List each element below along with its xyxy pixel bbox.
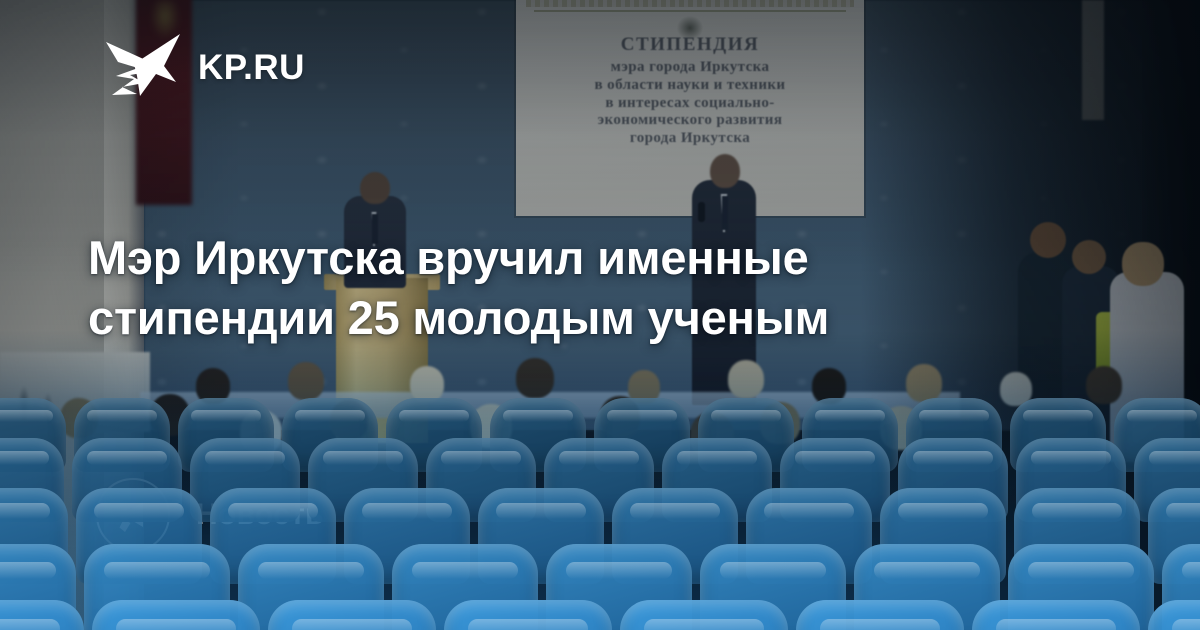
seat (620, 600, 788, 630)
brand-lockup[interactable]: KP.RU (104, 32, 305, 104)
headline-line-2: стипендии 25 молодым ученым (88, 288, 1048, 348)
headline-line-1: Мэр Иркутска вручил именные (88, 228, 1048, 288)
auditorium-seats (0, 392, 1200, 630)
seat (796, 600, 964, 630)
seat (972, 600, 1140, 630)
social-share-card: СТИПЕНДИЯ мэра города Иркутска в области… (0, 0, 1200, 630)
brand-name: KP.RU (198, 48, 305, 88)
page-title: Мэр Иркутска вручил именные стипендии 25… (88, 228, 1048, 348)
seat (92, 600, 260, 630)
swallow-bird-icon (104, 32, 182, 104)
seat (444, 600, 612, 630)
seat (268, 600, 436, 630)
